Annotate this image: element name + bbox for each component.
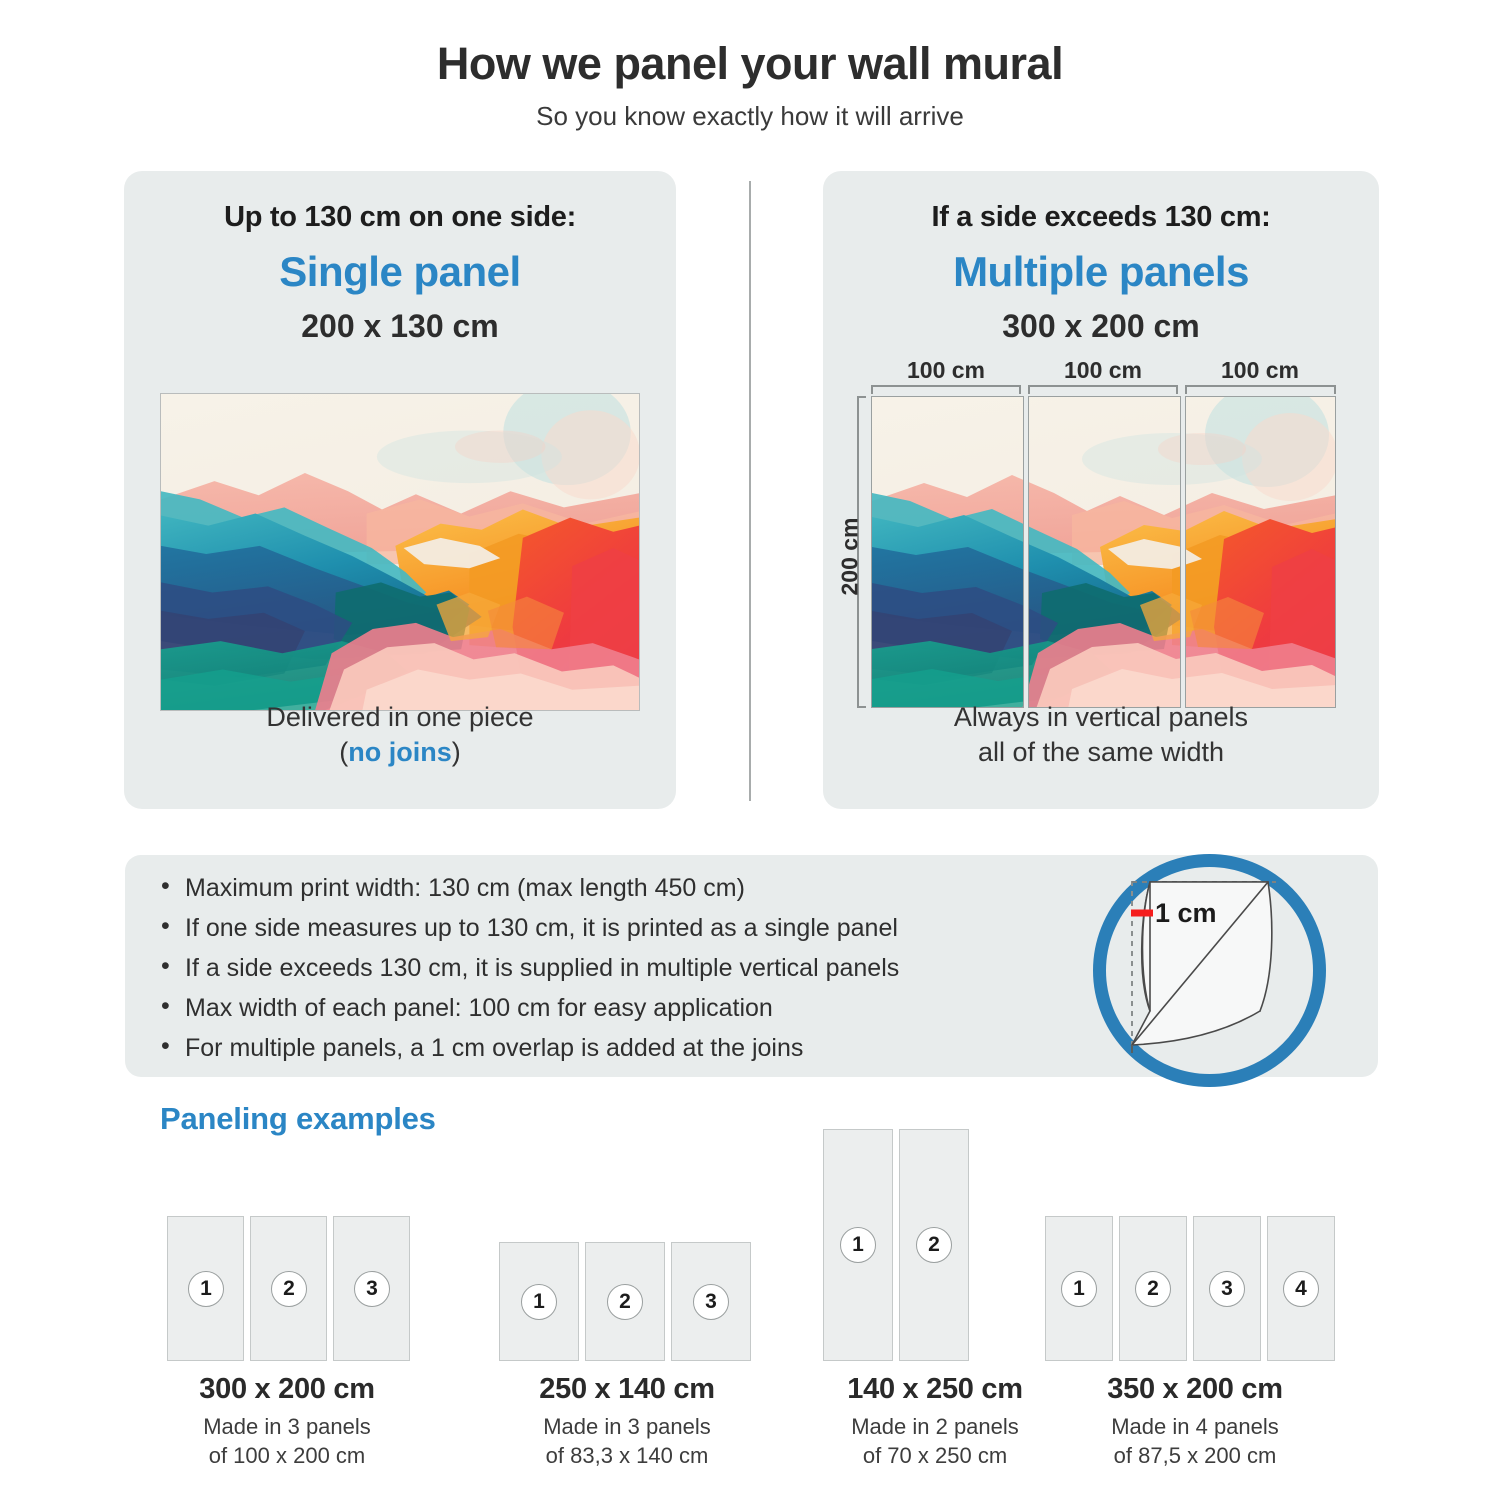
mural-artwork-single [160, 393, 640, 711]
card-single-panel: Up to 130 cm on one side: Single panel 2… [124, 171, 676, 809]
multi-card-footnote: Always in vertical panels all of the sam… [823, 700, 1379, 771]
page-subtitle: So you know exactly how it will arrive [0, 101, 1500, 132]
paren-close: ) [452, 737, 461, 767]
no-joins-accent: no joins [348, 737, 452, 767]
example-4-title: 350 x 200 cm [1040, 1373, 1350, 1406]
mural-artwork-multi [871, 396, 1336, 708]
example-3-badge: 1 [840, 1227, 876, 1263]
example-1-badge: 3 [354, 1271, 390, 1307]
panel-height-label: 200 cm [837, 502, 864, 612]
multi-card-headline: Multiple panels [823, 248, 1379, 296]
specifications-list: Maximum print width: 130 cm (max length … [155, 876, 899, 1076]
example-4-badge: 2 [1135, 1271, 1171, 1307]
panel-width-bracket-3 [1185, 385, 1336, 394]
example-4-panels: 1 2 3 4 [1045, 1216, 1340, 1361]
card-divider [749, 181, 751, 801]
multi-footnote-line2: all of the same width [978, 737, 1224, 767]
example-4-sub-line2: of 87,5 x 200 cm [1114, 1443, 1277, 1468]
mural-panel-3 [1185, 396, 1336, 708]
example-2-title: 250 x 140 cm [472, 1373, 782, 1406]
card-multiple-panels: If a side exceeds 130 cm: Multiple panel… [823, 171, 1379, 809]
overlap-diagram: 1 cm [1088, 849, 1331, 1092]
example-1-badge: 1 [188, 1271, 224, 1307]
example-1-title: 300 x 200 cm [127, 1373, 447, 1406]
spec-bullet: Maximum print width: 130 cm (max length … [155, 876, 899, 901]
example-3-panels: 1 2 [823, 1129, 973, 1361]
panel-width-bracket-2 [1028, 385, 1178, 394]
example-4-badge: 4 [1283, 1271, 1319, 1307]
example-2-subtitle: Made in 3 panels of 83,3 x 140 cm [472, 1412, 782, 1471]
example-1-badge: 2 [271, 1271, 307, 1307]
example-2-badge: 3 [693, 1284, 729, 1320]
example-3-subtitle: Made in 2 panels of 70 x 250 cm [790, 1412, 1080, 1471]
single-card-headline: Single panel [124, 248, 676, 296]
single-card-size: 200 x 130 cm [124, 308, 676, 345]
panel-width-label-3: 100 cm [1185, 357, 1335, 384]
page-title: How we panel your wall mural [0, 38, 1500, 90]
example-1-sub-line1: Made in 3 panels [203, 1414, 371, 1439]
mural-panel-2 [1028, 396, 1181, 708]
example-4-badge: 1 [1061, 1271, 1097, 1307]
example-3-sub-line1: Made in 2 panels [851, 1414, 1019, 1439]
panel-width-label-2: 100 cm [1028, 357, 1178, 384]
example-2-panels: 1 2 3 [499, 1242, 754, 1361]
example-3-sub-line2: of 70 x 250 cm [863, 1443, 1007, 1468]
spec-bullet: If one side measures up to 130 cm, it is… [155, 916, 899, 941]
panel-width-bracket-1 [871, 385, 1021, 394]
example-2-sub-line2: of 83,3 x 140 cm [546, 1443, 709, 1468]
spec-bullet: Max width of each panel: 100 cm for easy… [155, 996, 899, 1021]
example-1-sub-line2: of 100 x 200 cm [209, 1443, 366, 1468]
paren-open: ( [339, 737, 348, 767]
single-card-footnote: Delivered in one piece (no joins) [124, 700, 676, 771]
mural-panel-1 [871, 396, 1024, 708]
example-1-subtitle: Made in 3 panels of 100 x 200 cm [127, 1412, 447, 1471]
example-4-sub-line1: Made in 4 panels [1111, 1414, 1279, 1439]
example-2-badge: 2 [607, 1284, 643, 1320]
spec-bullet: If a side exceeds 130 cm, it is supplied… [155, 956, 899, 981]
spec-bullet: For multiple panels, a 1 cm overlap is a… [155, 1036, 899, 1061]
example-2-sub-line1: Made in 3 panels [543, 1414, 711, 1439]
example-4-subtitle: Made in 4 panels of 87,5 x 200 cm [1040, 1412, 1350, 1471]
multi-footnote-line1: Always in vertical panels [954, 702, 1248, 732]
example-1-panels: 1 2 3 [167, 1216, 412, 1361]
example-3-title: 140 x 250 cm [790, 1373, 1080, 1406]
example-4-badge: 3 [1209, 1271, 1245, 1307]
multi-card-size: 300 x 200 cm [823, 308, 1379, 345]
paneling-examples-heading: Paneling examples [160, 1101, 436, 1137]
overlap-label: 1 cm [1155, 898, 1217, 929]
example-2-badge: 1 [521, 1284, 557, 1320]
panel-width-label-1: 100 cm [871, 357, 1021, 384]
example-3-badge: 2 [916, 1227, 952, 1263]
single-card-kicker: Up to 130 cm on one side: [124, 201, 676, 234]
single-footnote-line1: Delivered in one piece [266, 702, 533, 732]
multi-card-kicker: If a side exceeds 130 cm: [823, 201, 1379, 234]
